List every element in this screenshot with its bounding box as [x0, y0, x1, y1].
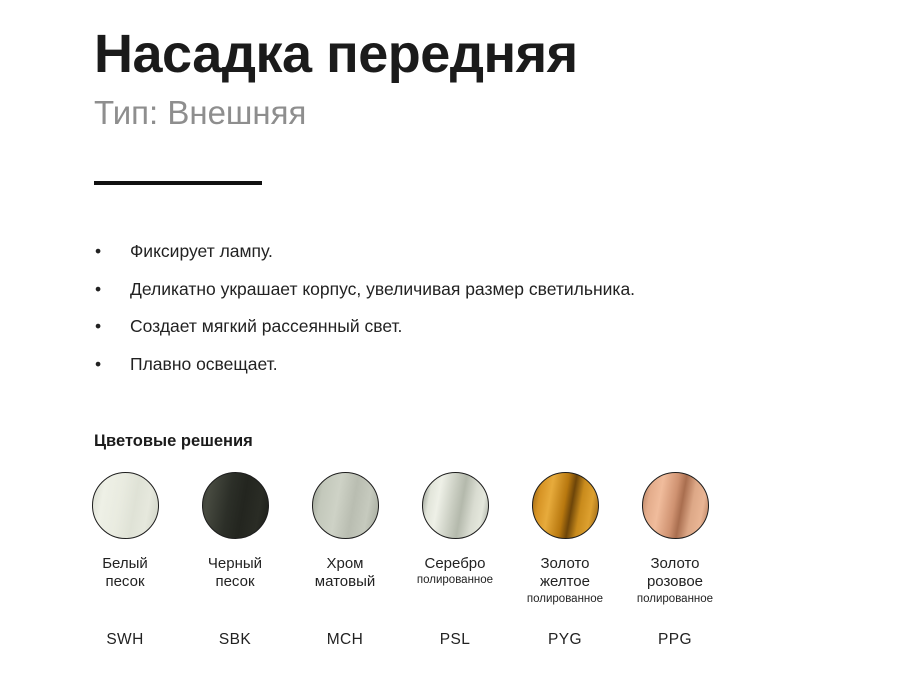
- swatch-disc-icon[interactable]: [312, 472, 379, 539]
- swatch-code: PSL: [400, 631, 510, 649]
- feature-item: •Деликатно украшает корпус, увеличивая р…: [94, 281, 854, 299]
- swatch-label: Сереброполированное: [417, 555, 493, 587]
- swatch-label-primary: Золото розовое: [647, 555, 703, 590]
- color-swatch-row: Белый песокЧерный песокХром матовыйСереб…: [70, 472, 830, 606]
- swatch-code: PPG: [620, 631, 730, 649]
- swatch-disc-icon[interactable]: [532, 472, 599, 539]
- colors-section-heading: Цветовые решения: [94, 432, 253, 451]
- swatch-label-primary: Золото желтое: [540, 555, 590, 590]
- color-swatch-swh[interactable]: Белый песок: [70, 472, 180, 592]
- swatch-code: PYG: [510, 631, 620, 649]
- color-swatch-ppg[interactable]: Золото розовоеполированное: [620, 472, 730, 606]
- bullet-icon: •: [95, 281, 101, 299]
- page-subtitle: Тип: Внешняя: [94, 95, 854, 131]
- swatch-label-qualifier: полированное: [527, 592, 603, 606]
- swatch-label-qualifier: полированное: [417, 573, 493, 587]
- feature-item: •Фиксирует лампу.: [94, 243, 854, 261]
- swatch-label-primary: Хром матовый: [315, 555, 376, 590]
- swatch-code: SBK: [180, 631, 290, 649]
- swatch-label: Золото желтоеполированное: [527, 555, 603, 606]
- feature-text: Деликатно украшает корпус, увеличивая ра…: [130, 279, 635, 299]
- color-swatch-sbk[interactable]: Черный песок: [180, 472, 290, 592]
- slide-root: Насадка передняя Тип: Внешняя •Фиксирует…: [0, 0, 900, 700]
- swatch-disc-icon[interactable]: [642, 472, 709, 539]
- feature-item: •Создает мягкий рассеянный свет.: [94, 318, 854, 336]
- feature-text: Фиксирует лампу.: [130, 241, 273, 261]
- swatch-label-qualifier: полированное: [637, 592, 713, 606]
- swatch-disc-icon[interactable]: [202, 472, 269, 539]
- color-code-row: SWHSBKMCHPSLPYGPPG: [70, 631, 830, 649]
- swatch-disc-icon[interactable]: [422, 472, 489, 539]
- swatch-label-primary: Белый песок: [102, 555, 148, 590]
- color-swatch-psl[interactable]: Сереброполированное: [400, 472, 510, 587]
- header: Насадка передняя Тип: Внешняя: [94, 26, 854, 131]
- swatch-label-primary: Серебро: [425, 555, 486, 572]
- page-title: Насадка передняя: [94, 26, 854, 83]
- color-swatch-mch[interactable]: Хром матовый: [290, 472, 400, 592]
- feature-item: •Плавно освещает.: [94, 356, 854, 374]
- swatch-disc-icon[interactable]: [92, 472, 159, 539]
- swatch-code: MCH: [290, 631, 400, 649]
- swatch-label: Золото розовоеполированное: [637, 555, 713, 606]
- title-divider: [94, 181, 262, 185]
- swatch-label: Белый песок: [102, 555, 148, 592]
- feature-text: Создает мягкий рассеянный свет.: [130, 316, 402, 336]
- swatch-label: Хром матовый: [315, 555, 376, 592]
- swatch-label: Черный песок: [208, 555, 262, 592]
- bullet-icon: •: [95, 356, 101, 374]
- feature-list: •Фиксирует лампу.•Деликатно украшает кор…: [94, 243, 854, 393]
- bullet-icon: •: [95, 243, 101, 261]
- swatch-label-primary: Черный песок: [208, 555, 262, 590]
- color-swatch-pyg[interactable]: Золото желтоеполированное: [510, 472, 620, 606]
- bullet-icon: •: [95, 318, 101, 336]
- swatch-code: SWH: [70, 631, 180, 649]
- feature-text: Плавно освещает.: [130, 354, 278, 374]
